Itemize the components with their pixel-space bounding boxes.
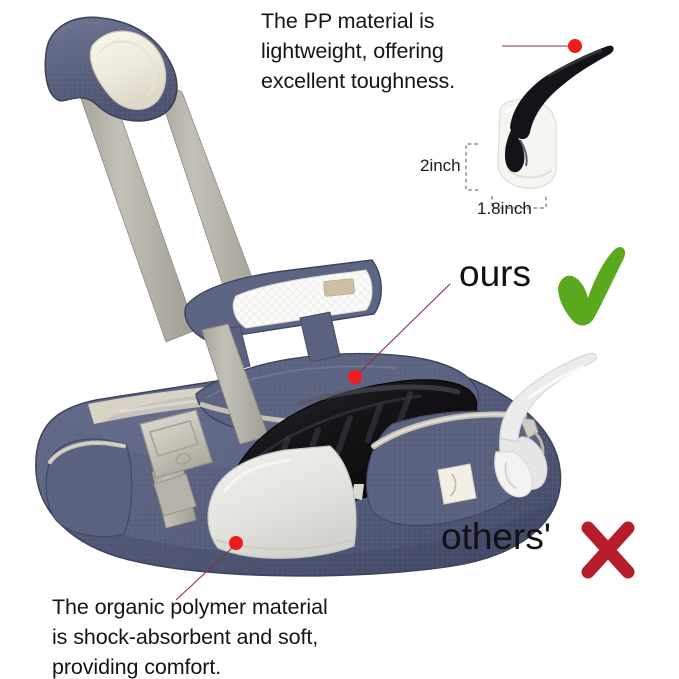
lumbar-mesh-pad	[185, 260, 381, 372]
comparison-label-others: othersʹ	[441, 516, 551, 558]
dimension-height-label: 2inch	[420, 156, 461, 176]
shoulder-strap-pad	[45, 17, 177, 121]
product-illustration	[0, 0, 679, 679]
check-icon	[558, 247, 625, 325]
red-dot-foam	[229, 536, 243, 550]
shoulder-webbing-straps	[80, 78, 268, 342]
front-zip-pocket	[367, 411, 545, 525]
seat-top-shelf	[190, 345, 490, 445]
ours-hook-sample	[498, 46, 614, 189]
waist-belt-body	[30, 360, 570, 600]
side-pocket	[46, 439, 132, 537]
chest-strap-buckle	[140, 324, 268, 528]
red-dot-top	[568, 39, 582, 53]
infographic-canvas: The PP material is lightweight, offering…	[0, 0, 679, 679]
comparison-label-ours: ours	[459, 253, 531, 295]
eva-foam-seat-panel	[208, 446, 356, 558]
others-hook-sample	[495, 353, 597, 497]
pp-seat-frame	[228, 380, 477, 512]
dimension-width-label: 1.8inch	[477, 199, 532, 219]
red-dot-pp-frame	[348, 370, 362, 384]
organic-polymer-caption: The organic polymer material is shock-ab…	[52, 592, 402, 679]
cross-icon	[588, 528, 628, 572]
pp-material-caption: The PP material is lightweight, offering…	[261, 6, 511, 96]
